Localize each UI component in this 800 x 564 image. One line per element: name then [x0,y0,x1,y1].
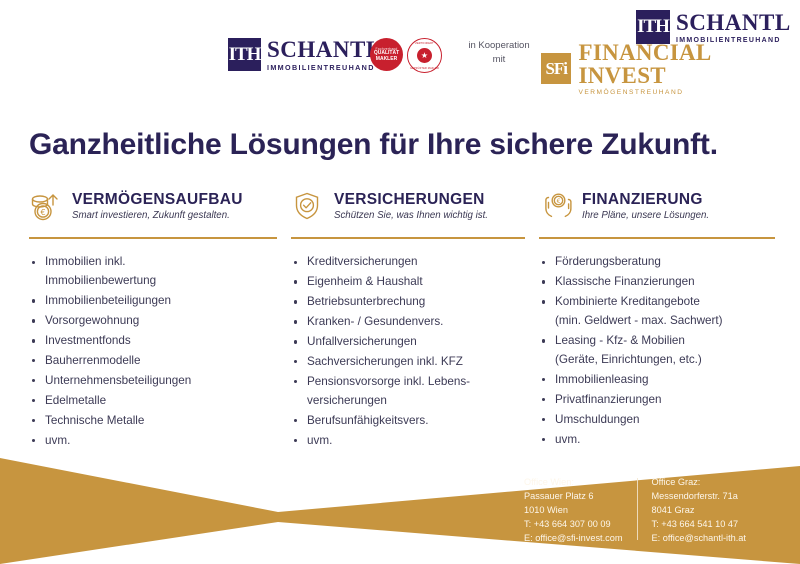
ith-brand-name: SCHANTL [676,11,791,34]
list-item-text: Technische Metalle [45,414,144,427]
list-item-continuation: (min. Geldwert - max. Sachwert) [555,312,789,331]
service-column-versicherungen: VERSICHERUNGEN Schützen Sie, was Ihnen w… [291,185,539,452]
list-item-text: Unternehmensbeteiligungen [45,374,191,387]
column-title: VERMÖGENSAUFBAU [72,191,243,208]
list-item-text: Berufsunfähigkeitsvers. [307,414,428,427]
sfi-brand-name: FINANCIAL INVEST [578,41,800,87]
poster-page: ITH SCHANTL IMMOBILIENTREUHAND Fachverba… [0,0,800,564]
column-title-block: VERSICHERUNGEN Schützen Sie, was Ihnen w… [334,191,488,222]
page-headline: Ganzheitliche Lösungen für Ihre sichere … [29,128,718,162]
column-title: FINANZIERUNG [582,191,709,208]
wirtschaftskammer-seal-icon: ZERTIFIZIERT ★ GEPRÜFTER MAKLER [407,38,442,73]
column-divider [29,237,277,239]
column-title-block: FINANZIERUNG Ihre Pläne, unsere Lösungen… [582,191,709,222]
contact-phone[interactable]: T: +43 664 307 00 09 [524,518,623,532]
contact-title: Office Graz: [652,476,746,490]
column-header: € FINANZIERUNG Ihre Pläne, unsere Lösung… [539,185,789,227]
list-item: Investmentfonds [29,332,291,351]
list-item: Eigenheim & Haushalt [291,273,539,292]
logo-schantl-ith-left: ITH SCHANTL IMMOBILIENTREUHAND [228,38,382,71]
coins-euro-growth-icon: € [29,190,63,222]
list-item-text: Kombinierte Kreditangebote [555,295,700,308]
list-item-text: Immobilienbeteiligungen [45,294,171,307]
contact-city: 1010 Wien [524,504,623,518]
column-header: € VERMÖGENSAUFBAU Smart investieren, Zuk… [29,185,291,227]
sfi-monogram-icon: SFi [541,53,571,84]
seal-ring-top-text: ZERTIFIZIERT [408,42,441,45]
list-item: Bauherrenmodelle [29,352,291,371]
list-item-text: Kreditversicherungen [307,255,417,268]
sfi-brand-subtitle: VERMÖGENSTREUHAND [578,90,800,97]
list-item: Immobilienbeteiligungen [29,292,291,311]
list-item-text: Betriebsunterbrechung [307,295,425,308]
contact-phone[interactable]: T: +43 664 541 10 47 [652,518,746,532]
ith-brand-name: SCHANTL [267,38,382,61]
list-item-continuation: (Geräte, Einrichtungen, etc.) [555,351,789,370]
list-item: Unternehmensbeteiligungen [29,372,291,391]
list-item: Pensionsvorsorge inkl. Lebens-versicheru… [291,373,539,411]
list-item-text: Vorsorgewohnung [45,314,139,327]
seal-line-3: MAKLER [376,57,397,62]
ith-brand-subtitle: IMMOBILIENTREUHAND [267,64,382,71]
service-column-vermoegensaufbau: € VERMÖGENSAUFBAU Smart investieren, Zuk… [29,185,291,452]
list-item: Umschuldungen [539,411,789,430]
list-item: Sachversicherungen inkl. KFZ [291,353,539,372]
ith-monogram-icon: ITH [228,38,261,71]
list-item: Kranken- / Gesundenvers. [291,313,539,332]
contact-email[interactable]: E: office@schantl-ith.at [652,532,746,546]
list-item-text: Umschuldungen [555,413,639,426]
list-item-text: Förderungsberatung [555,255,661,268]
list-item: Immobilienleasing [539,371,789,390]
list-item-text: Edelmetalle [45,394,106,407]
header-logo-bar: ITH SCHANTL IMMOBILIENTREUHAND Fachverba… [0,0,800,100]
list-item: Betriebsunterbrechung [291,293,539,312]
column-divider [539,237,775,239]
footer-contacts: Office Wien: Passauer Platz 6 1010 Wien … [524,476,746,546]
column-header: VERSICHERUNGEN Schützen Sie, was Ihnen w… [291,185,539,227]
certification-seals: Fachverband QUALITÄT MAKLER ZERTIFIZIERT… [370,38,442,73]
ith-monogram-text: ITH [637,16,669,38]
cooperation-note: in Kooperation mit [462,39,536,67]
list-item-text: Kranken- / Gesundenvers. [307,315,443,328]
contact-office-graz: Office Graz: Messendorferstr. 71a 8041 G… [652,476,746,546]
list-item: Berufsunfähigkeitsvers. [291,412,539,431]
contact-street: Messendorferstr. 71a [652,490,746,504]
contact-city: 8041 Graz [652,504,746,518]
list-item-text: Immobilienleasing [555,373,649,386]
list-item-continuation: Immobilienbewertung [45,272,291,291]
logo-sfi-financial-invest: SFi FINANCIAL INVEST VERMÖGENSTREUHAND [541,41,800,97]
ith-monogram-text: ITH [229,44,261,66]
service-columns: € VERMÖGENSAUFBAU Smart investieren, Zuk… [0,185,800,452]
list-item-text: Bauherrenmodelle [45,354,141,367]
column-subtitle: Ihre Pläne, unsere Lösungen. [582,211,709,222]
list-item-text: Klassische Finanzierungen [555,275,695,288]
qualitaets-makler-seal-icon: Fachverband QUALITÄT MAKLER [370,38,403,71]
seal-ring-bottom-text: GEPRÜFTER MAKLER [408,67,441,70]
list-item-text: Unfallversicherungen [307,335,417,348]
ith-wordmark: SCHANTL IMMOBILIENTREUHAND [676,11,791,44]
list-item: Kombinierte Kreditangebote(min. Geldwert… [539,293,789,331]
footer-left-wedge [0,458,278,564]
list-item: Edelmetalle [29,392,291,411]
list-item-text: Sachversicherungen inkl. KFZ [307,355,463,368]
seal-ring-center-glyph: ★ [417,48,432,63]
list-item-text: Immobilien inkl. [45,255,126,268]
seal-line-1: Fachverband [376,47,398,51]
service-list: Kreditversicherungen Eigenheim & Haushal… [291,253,539,451]
list-item: Technische Metalle [29,412,291,431]
svg-text:€: € [40,208,45,217]
shield-check-icon [291,190,325,222]
list-item: Förderungsberatung [539,253,789,272]
column-subtitle: Schützen Sie, was Ihnen wichtig ist. [334,211,488,222]
list-item: Leasing - Kfz- & Mobilien(Geräte, Einric… [539,332,789,370]
contact-title: Office Wien: [524,476,623,490]
ith-monogram-icon: ITH [636,10,670,44]
list-item: Immobilien inkl.Immobilienbewertung [29,253,291,291]
column-subtitle: Smart investieren, Zukunft gestalten. [72,211,243,222]
sfi-wordmark: FINANCIAL INVEST VERMÖGENSTREUHAND [578,41,800,97]
list-item-text: Leasing - Kfz- & Mobilien [555,334,685,347]
hands-holding-coin-icon: € [539,190,573,222]
ith-wordmark: SCHANTL IMMOBILIENTREUHAND [267,38,382,71]
list-item: Vorsorgewohnung [29,312,291,331]
list-item: Kreditversicherungen [291,253,539,272]
logo-schantl-ith-topright: ITH SCHANTL IMMOBILIENTREUHAND [636,10,791,44]
column-title: VERSICHERUNGEN [334,191,488,208]
list-item-text: Eigenheim & Haushalt [307,275,423,288]
contact-street: Passauer Platz 6 [524,490,623,504]
ith-brand-subtitle: IMMOBILIENTREUHAND [676,37,791,44]
list-item-text: Pensionsvorsorge inkl. Lebens- [307,375,470,388]
column-divider [291,237,525,239]
column-title-block: VERMÖGENSAUFBAU Smart investieren, Zukun… [72,191,243,222]
list-item: Klassische Finanzierungen [539,273,789,292]
contact-divider [637,478,638,540]
service-column-finanzierung: € FINANZIERUNG Ihre Pläne, unsere Lösung… [539,185,789,452]
list-item: Privatfinanzierungen [539,391,789,410]
service-list: Immobilien inkl.Immobilienbewertung Immo… [29,253,291,451]
service-list: Förderungsberatung Klassische Finanzieru… [539,253,789,450]
list-item-text: Investmentfonds [45,334,131,347]
list-item: Unfallversicherungen [291,333,539,352]
contact-email[interactable]: E: office@sfi-invest.com [524,532,623,546]
contact-office-wien: Office Wien: Passauer Platz 6 1010 Wien … [524,476,623,546]
list-item-text: Privatfinanzierungen [555,393,662,406]
list-item-continuation: versicherungen [307,392,539,411]
svg-text:€: € [557,198,561,205]
